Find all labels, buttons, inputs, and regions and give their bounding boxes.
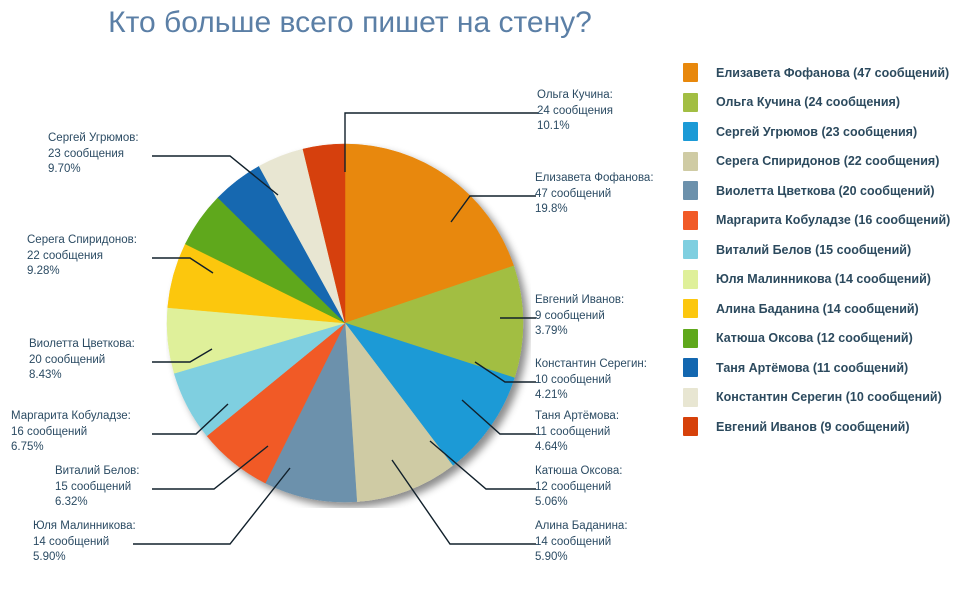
label-count: 23 сообщения [48, 147, 139, 163]
label-percent: 9.70% [48, 162, 139, 178]
label-percent: 6.75% [11, 440, 131, 456]
label-count: 16 сообщений [11, 425, 131, 441]
slice-label-elizaveta-fofanova: Елизавета Фофанова: 47 сообщений 19.8% [535, 171, 654, 218]
label-percent: 6.32% [55, 495, 139, 511]
legend-color-swatch [683, 388, 698, 407]
slice-label-sergey-ugryumov: Сергей Угрюмов: 23 сообщения 9.70% [48, 131, 139, 178]
legend-item[interactable]: Виталий Белов (15 сообщений) [683, 235, 966, 265]
legend-item-label: Катюша Оксова (12 сообщений) [716, 331, 913, 345]
label-percent: 5.90% [33, 550, 136, 566]
legend-color-swatch [683, 358, 698, 377]
legend-item[interactable]: Сергей Угрюмов (23 сообщения) [683, 117, 966, 147]
legend-item-label: Сергей Угрюмов (23 сообщения) [716, 125, 917, 139]
label-count: 10 сообщений [535, 373, 647, 389]
label-count: 24 сообщения [537, 104, 613, 120]
label-count: 12 сообщений [535, 480, 623, 496]
legend-item[interactable]: Серега Спиридонов (22 сообщения) [683, 147, 966, 177]
label-count: 11 сообщений [535, 425, 619, 441]
label-name: Таня Артёмова: [535, 409, 619, 425]
slice-label-vitaliy-belov: Виталий Белов: 15 сообщений 6.32% [55, 464, 139, 511]
label-count: 14 сообщений [535, 535, 628, 551]
legend-color-swatch [683, 211, 698, 230]
pie-svg [166, 143, 531, 508]
label-name: Сергей Угрюмов: [48, 131, 139, 147]
legend-item-label: Маргарита Кобуладзе (16 сообщений) [716, 213, 950, 227]
label-name: Виталий Белов: [55, 464, 139, 480]
slice-label-olga-kuchina: Ольга Кучина: 24 сообщения 10.1% [537, 88, 613, 135]
legend-item[interactable]: Елизавета Фофанова (47 сообщений) [683, 58, 966, 88]
label-percent: 19.8% [535, 202, 654, 218]
legend-color-swatch [683, 181, 698, 200]
label-percent: 10.1% [537, 119, 613, 135]
label-count: 22 сообщения [27, 249, 137, 265]
label-percent: 8.43% [29, 368, 135, 384]
label-percent: 3.79% [535, 324, 624, 340]
legend-color-swatch [683, 63, 698, 82]
legend-item[interactable]: Юля Малинникова (14 сообщений) [683, 265, 966, 295]
label-percent: 4.21% [535, 388, 647, 404]
legend-color-swatch [683, 270, 698, 289]
legend-color-swatch [683, 299, 698, 318]
label-percent: 9.28% [27, 264, 137, 280]
legend-item-label: Евгений Иванов (9 сообщений) [716, 420, 909, 434]
legend-item-label: Виолетта Цветкова (20 сообщений) [716, 184, 935, 198]
label-percent: 5.90% [535, 550, 628, 566]
label-name: Елизавета Фофанова: [535, 171, 654, 187]
legend-item-label: Таня Артёмова (11 сообщений) [716, 361, 908, 375]
legend-item[interactable]: Катюша Оксова (12 сообщений) [683, 324, 966, 354]
slice-label-alina-badanina: Алина Баданина: 14 сообщений 5.90% [535, 519, 628, 566]
legend-item[interactable]: Константин Серегин (10 сообщений) [683, 383, 966, 413]
label-name: Евгений Иванов: [535, 293, 624, 309]
label-name: Серега Спиридонов: [27, 233, 137, 249]
slice-label-katyusha-oksova: Катюша Оксова: 12 сообщений 5.06% [535, 464, 623, 511]
label-name: Катюша Оксова: [535, 464, 623, 480]
slice-label-konstantin-seregin: Константин Серегин: 10 сообщений 4.21% [535, 357, 647, 404]
label-name: Виолетта Цветкова: [29, 337, 135, 353]
label-name: Маргарита Кобуладзе: [11, 409, 131, 425]
legend-item[interactable]: Евгений Иванов (9 сообщений) [683, 412, 966, 442]
label-count: 20 сообщений [29, 353, 135, 369]
label-percent: 4.64% [535, 440, 619, 456]
legend-item[interactable]: Виолетта Цветкова (20 сообщений) [683, 176, 966, 206]
slice-label-violetta-tsvetkova: Виолетта Цветкова: 20 сообщений 8.43% [29, 337, 135, 384]
legend-item-label: Серега Спиридонов (22 сообщения) [716, 154, 939, 168]
legend-item[interactable]: Маргарита Кобуладзе (16 сообщений) [683, 206, 966, 236]
slice-label-evgeniy-ivanov: Евгений Иванов: 9 сообщений 3.79% [535, 293, 624, 340]
label-count: 15 сообщений [55, 480, 139, 496]
legend-color-swatch [683, 152, 698, 171]
legend-item-label: Юля Малинникова (14 сообщений) [716, 272, 931, 286]
legend-item[interactable]: Таня Артёмова (11 сообщений) [683, 353, 966, 383]
legend-item-label: Ольга Кучина (24 сообщения) [716, 95, 900, 109]
slice-label-tanya-artemova: Таня Артёмова: 11 сообщений 4.64% [535, 409, 619, 456]
legend-item-label: Константин Серегин (10 сообщений) [716, 390, 942, 404]
legend-item-label: Виталий Белов (15 сообщений) [716, 243, 911, 257]
label-name: Константин Серегин: [535, 357, 647, 373]
legend-color-swatch [683, 240, 698, 259]
pie-chart [166, 143, 526, 503]
label-name: Юля Малинникова: [33, 519, 136, 535]
legend-item-label: Алина Баданина (14 сообщений) [716, 302, 919, 316]
legend-color-swatch [683, 329, 698, 348]
legend-item[interactable]: Алина Баданина (14 сообщений) [683, 294, 966, 324]
legend: Елизавета Фофанова (47 сообщений)Ольга К… [683, 58, 966, 442]
label-count: 9 сообщений [535, 309, 624, 325]
slice-label-margarita-kobuladze: Маргарита Кобуладзе: 16 сообщений 6.75% [11, 409, 131, 456]
page-title: Кто больше всего пишет на стену? [0, 6, 700, 40]
legend-color-swatch [683, 93, 698, 112]
chart-page: Кто больше всего пишет на стену? [0, 0, 966, 604]
legend-color-swatch [683, 122, 698, 141]
legend-item-label: Елизавета Фофанова (47 сообщений) [716, 66, 949, 80]
label-count: 47 сообщений [535, 187, 654, 203]
label-name: Ольга Кучина: [537, 88, 613, 104]
label-percent: 5.06% [535, 495, 623, 511]
legend-item[interactable]: Ольга Кучина (24 сообщения) [683, 88, 966, 118]
label-name: Алина Баданина: [535, 519, 628, 535]
legend-color-swatch [683, 417, 698, 436]
slice-label-yulya-malinnikova: Юля Малинникова: 14 сообщений 5.90% [33, 519, 136, 566]
slice-label-serega-spiridonov: Серега Спиридонов: 22 сообщения 9.28% [27, 233, 137, 280]
label-count: 14 сообщений [33, 535, 136, 551]
